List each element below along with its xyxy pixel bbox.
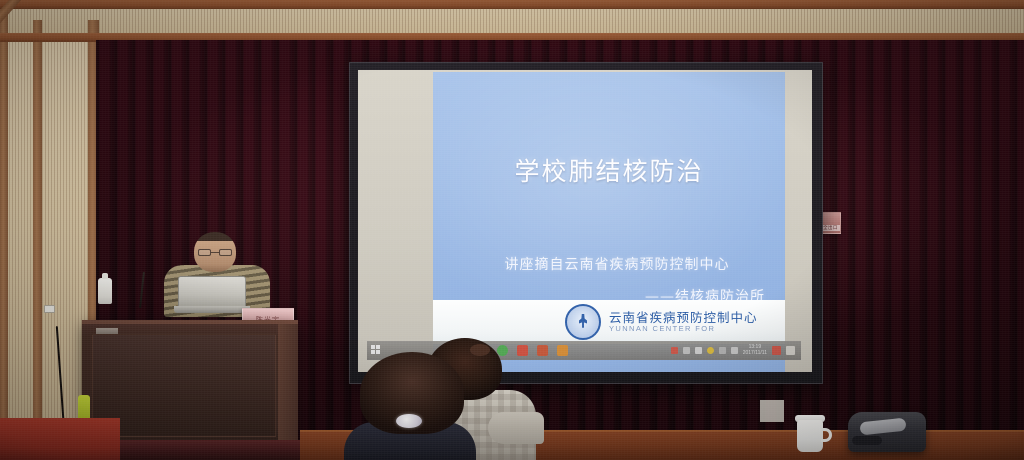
chevron-up-icon[interactable] (695, 347, 702, 354)
hair-tie-accessory (396, 414, 422, 428)
wall-trim-top (0, 0, 1024, 9)
eyeglasses-icon (198, 249, 232, 256)
projection-screen-frame: 学校肺结核防治 讲座摘自云南省疾病预防控制中心 ——结核病防治所 云南省疾病预防… (349, 62, 823, 384)
laptop-screen-lid (178, 276, 246, 307)
folder-icon[interactable] (557, 345, 568, 356)
presentation-slide: 学校肺结核防治 讲座摘自云南省疾病预防控制中心 ——结核病防治所 云南省疾病预防… (433, 72, 785, 372)
laptop-computer (174, 276, 250, 314)
water-bottle (98, 278, 112, 304)
paper-sheet (760, 400, 784, 422)
organization-name-block: 云南省疾病预防控制中心 YUNNAN CENTER FOR (609, 311, 758, 333)
slide-subtitle-line1: 讲座摘自云南省疾病预防控制中心 (463, 254, 771, 274)
slide-title: 学校肺结核防治 (433, 152, 785, 188)
projection-screen-surface: 学校肺结核防治 讲座摘自云南省疾病预防控制中心 ——结核病防治所 云南省疾病预防… (358, 70, 812, 372)
laptop-base (174, 306, 250, 313)
network-icon[interactable] (719, 347, 726, 354)
organization-name-en: YUNNAN CENTER FOR (609, 325, 758, 333)
ceramic-mug (797, 420, 823, 452)
pen-icon[interactable] (683, 347, 690, 354)
notification-icon[interactable] (671, 347, 678, 354)
ime-indicator-icon[interactable] (772, 346, 781, 355)
audience-member-second-arm (488, 412, 544, 444)
app-icon[interactable] (537, 345, 548, 356)
system-tray[interactable]: 13:19 2017/11/11 (671, 345, 797, 357)
taskbar-clock[interactable]: 13:19 2017/11/11 (743, 345, 767, 357)
clock-date: 2017/11/11 (743, 351, 767, 357)
lectern-side-panel (278, 324, 298, 445)
power-outlet-icon (44, 305, 55, 313)
audience-member-front (344, 352, 476, 460)
projected-image-area: 学校肺结核防治 讲座摘自云南省疾病预防控制中心 ——结核病防治所 云南省疾病预防… (433, 72, 785, 372)
shield-icon[interactable] (707, 347, 714, 354)
wall-pilaster-left-a (33, 20, 42, 460)
backpack (848, 412, 926, 452)
audience-seats-left (0, 418, 120, 460)
lecture-hall-scene: 安全出口 学校肺结核防治 讲座摘自云南省疾病预防控制中心 ——结核病防治所 云南… (0, 0, 1024, 460)
organization-name-cn: 云南省疾病预防控制中心 (609, 311, 758, 324)
language-bar-icon[interactable] (786, 346, 795, 355)
cdc-emblem-icon (565, 304, 601, 340)
wall-pilaster-far-left (0, 0, 8, 460)
volume-icon[interactable] (731, 347, 738, 354)
